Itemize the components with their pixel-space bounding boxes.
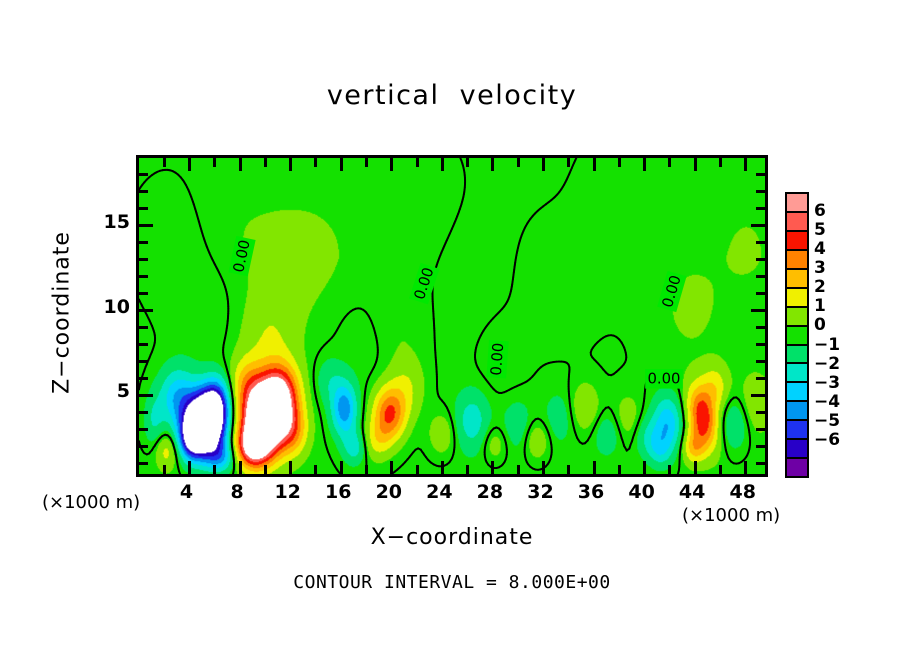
x-tick-top (618, 158, 621, 167)
y-tick-right (756, 190, 765, 193)
x-tick (466, 465, 469, 474)
colorbar-tick-label: −2 (814, 354, 840, 374)
x-tick-top (542, 158, 545, 171)
x-tick-top (441, 158, 444, 171)
y-tick-right (756, 326, 765, 329)
colorbar-band (787, 364, 807, 383)
y-tick-right (756, 292, 765, 295)
svg-text:0.00: 0.00 (488, 342, 507, 376)
svg-text:0.00: 0.00 (647, 370, 680, 387)
y-tick (139, 190, 148, 193)
colorbar-band (787, 289, 807, 308)
x-tick (694, 461, 697, 474)
y-tick-right (751, 309, 765, 312)
zero-contour-overlay: 0.000.000.000.000.00 (139, 158, 765, 474)
x-tick (517, 465, 520, 474)
x-tick-top (416, 158, 419, 167)
contour-value-label: 0.00 (409, 263, 439, 305)
colorbar-band (787, 421, 807, 440)
colorbar-band (787, 440, 807, 459)
colorbar-band (787, 327, 807, 346)
y-tick-label: 10 (96, 296, 130, 318)
x-tick-top (567, 158, 570, 167)
x-tick (390, 461, 393, 474)
x-tick-top (365, 158, 368, 167)
colorbar-band (787, 270, 807, 289)
x-tick (314, 465, 317, 474)
x-tick-top (744, 158, 747, 171)
x-tick (239, 461, 242, 474)
x-tick (491, 461, 494, 474)
contour-value-label: 0.00 (486, 340, 508, 379)
y-tick-right (756, 360, 765, 363)
y-tick (139, 207, 148, 210)
x-tick (593, 461, 596, 474)
colorbar-band (787, 194, 807, 213)
y-tick (139, 241, 148, 244)
x-tick (719, 465, 722, 474)
y-tick-right (756, 428, 765, 431)
colorbar-band (787, 251, 807, 270)
figure-canvas: vertical velocity 0.000.000.000.000.00 X… (0, 0, 904, 654)
y-tick (139, 411, 148, 414)
y-tick (139, 377, 148, 380)
x-tick-top (289, 158, 292, 171)
y-tick-right (756, 462, 765, 465)
x-tick (188, 461, 191, 474)
y-tick (139, 309, 153, 312)
y-tick-label: 15 (96, 211, 130, 233)
colorbar-tick-label: −6 (814, 430, 840, 450)
colorbar-tick-label: −5 (814, 411, 840, 431)
x-tick-top (213, 158, 216, 167)
y-tick (139, 173, 148, 176)
colorbar-tick-label: 4 (814, 239, 826, 259)
x-tick (567, 465, 570, 474)
y-tick-right (756, 241, 765, 244)
x-tick (289, 461, 292, 474)
x-tick-top (390, 158, 393, 171)
x-tick-top (188, 158, 191, 171)
x-tick (441, 461, 444, 474)
svg-text:0.00: 0.00 (230, 238, 254, 274)
colorbar-band (787, 308, 807, 327)
x-tick (618, 465, 621, 474)
x-units-left-label: (×1000 m) (42, 492, 140, 513)
x-tick (340, 461, 343, 474)
y-axis-title: Z−coordinate (50, 203, 75, 423)
x-tick (744, 461, 747, 474)
x-tick-top (694, 158, 697, 171)
y-tick (139, 275, 148, 278)
y-tick-right (756, 258, 765, 261)
colorbar[interactable] (785, 192, 809, 478)
x-tick (365, 465, 368, 474)
x-tick-top (668, 158, 671, 167)
y-tick-label: 5 (96, 380, 130, 402)
x-tick-top (719, 158, 722, 167)
colorbar-tick-label: −4 (814, 392, 840, 412)
x-tick-top (239, 158, 242, 171)
y-tick (139, 326, 148, 329)
colorbar-tick-label: 2 (814, 277, 826, 297)
colorbar-tick-label: 6 (814, 201, 826, 221)
colorbar-tick-label: 3 (814, 258, 826, 278)
colorbar-tick-label: 0 (814, 315, 826, 335)
y-tick (139, 445, 148, 448)
contour-value-label: 0.00 (228, 236, 255, 277)
x-tick (542, 461, 545, 474)
x-tick (163, 465, 166, 474)
x-tick (264, 465, 267, 474)
contour-value-label: 0.00 (645, 369, 683, 389)
y-tick (139, 462, 148, 465)
y-tick (139, 258, 148, 261)
x-tick-top (264, 158, 267, 167)
x-tick-top (491, 158, 494, 171)
y-tick-right (751, 224, 765, 227)
x-tick (416, 465, 419, 474)
colorbar-band (787, 402, 807, 421)
contour-interval-caption: CONTOUR INTERVAL = 8.000E+00 (0, 572, 904, 593)
y-tick-right (756, 275, 765, 278)
x-tick (668, 465, 671, 474)
x-axis-title: X−coordinate (0, 525, 904, 550)
colorbar-band (787, 459, 807, 476)
y-tick-right (756, 377, 765, 380)
x-units-right-label: (×1000 m) (682, 505, 780, 526)
x-tick-top (163, 158, 166, 167)
x-tick-top (643, 158, 646, 171)
colorbar-tick-label: 1 (814, 296, 826, 316)
colorbar-band (787, 346, 807, 365)
page-title: vertical velocity (0, 80, 904, 111)
colorbar-band (787, 232, 807, 251)
y-tick-right (756, 343, 765, 346)
colorbar-tick-label: −1 (814, 335, 840, 355)
y-tick-right (756, 445, 765, 448)
x-tick (213, 465, 216, 474)
y-tick-right (756, 207, 765, 210)
y-tick-right (756, 173, 765, 176)
y-tick (139, 292, 148, 295)
colorbar-band (787, 213, 807, 232)
colorbar-tick-label: −3 (814, 373, 840, 393)
x-tick-top (466, 158, 469, 167)
contour-value-label: 0.00 (657, 271, 686, 312)
y-tick (139, 343, 148, 346)
y-tick (139, 394, 153, 397)
contour-plot-area: 0.000.000.000.000.00 (136, 155, 768, 477)
colorbar-tick-label: 5 (814, 220, 826, 240)
x-tick-top (517, 158, 520, 167)
x-tick-top (340, 158, 343, 171)
y-tick (139, 360, 148, 363)
y-tick-right (751, 394, 765, 397)
x-tick-label: 48 (713, 481, 773, 503)
x-tick-top (593, 158, 596, 171)
colorbar-band (787, 383, 807, 402)
y-tick (139, 428, 148, 431)
x-tick (643, 461, 646, 474)
y-tick (139, 224, 153, 227)
x-tick-top (314, 158, 317, 167)
y-tick-right (756, 411, 765, 414)
